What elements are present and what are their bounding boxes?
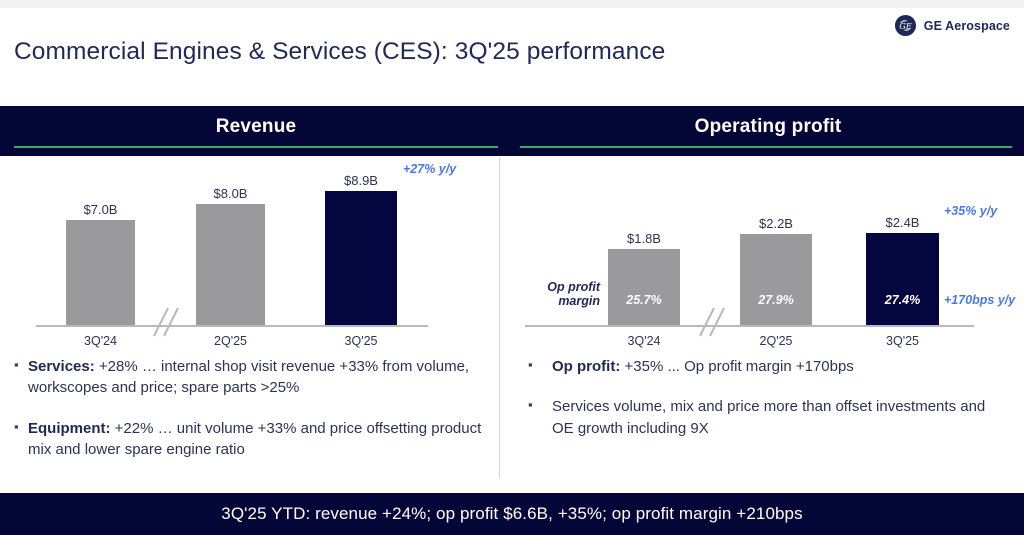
operating-profit-bullet-list: ▪ Op profit: +35% ... Op profit margin +…: [528, 356, 998, 458]
bar-op-profit-3q24: [608, 249, 680, 325]
panel-header-operating-profit-label: Operating profit: [695, 116, 842, 138]
bullet-text: Op profit: +35% ... Op profit margin +17…: [552, 356, 854, 377]
revenue-bullet-list: ▪ Services: +28% … internal shop visit r…: [14, 356, 486, 479]
revenue-bar-chart: $7.0B 3Q'24 $8.0B 2Q'25 $8.9B 3Q'25 +27%…: [0, 156, 499, 356]
bar-margin-op-profit-3q25: 27.4%: [866, 293, 939, 307]
bullet-rest: +28% … internal shop visit revenue +33% …: [28, 358, 469, 396]
bullet-lead: Equipment:: [28, 420, 111, 437]
bar-margin-op-profit-3q24: 25.7%: [608, 293, 680, 307]
category-label-revenue-3q24: 3Q'24: [66, 334, 135, 348]
header-rule-green: [520, 146, 1012, 148]
op-profit-margin-row-label-line2: margin: [512, 294, 600, 308]
brand-logo: GE GE Aerospace: [894, 14, 1010, 37]
panel-header-revenue-label: Revenue: [216, 116, 297, 138]
footer-band: 3Q'25 YTD: revenue +24%; op profit $6.6B…: [0, 493, 1024, 535]
chart-axis-line: [525, 325, 974, 327]
op-profit-margin-row-label-line1: Op profit: [512, 280, 600, 294]
bar-value-revenue-2q25: $8.0B: [196, 186, 265, 201]
bullet-rest: Services volume, mix and price more than…: [552, 398, 985, 436]
list-item: ▪ Equipment: +22% … unit volume +33% and…: [14, 418, 486, 461]
panel-header-revenue: Revenue: [0, 106, 512, 156]
bar-revenue-2q25: [196, 204, 265, 325]
bar-value-op-profit-2q25: $2.2B: [740, 216, 812, 231]
ge-monogram-icon: GE: [894, 14, 917, 37]
bullet-text: Services volume, mix and price more than…: [552, 396, 998, 439]
list-item: ▪ Op profit: +35% ... Op profit margin +…: [528, 356, 998, 377]
top-strip: [0, 0, 1024, 8]
bullet-lead: Services:: [28, 358, 95, 375]
annotation-revenue-yoy: +27% y/y: [403, 162, 456, 176]
slide: GE GE Aerospace Commercial Engines & Ser…: [0, 0, 1024, 535]
category-label-op-profit-3q25: 3Q'25: [866, 334, 939, 348]
bar-value-revenue-3q24: $7.0B: [66, 202, 135, 217]
bar-op-profit-3q25: [866, 233, 939, 325]
brand-name: GE Aerospace: [924, 19, 1010, 33]
header-rule-green: [14, 146, 498, 148]
category-label-op-profit-2q25: 2Q'25: [740, 334, 812, 348]
category-label-revenue-2q25: 2Q'25: [196, 334, 265, 348]
footer-summary-text: 3Q'25 YTD: revenue +24%; op profit $6.6B…: [221, 504, 802, 524]
bar-value-op-profit-3q24: $1.8B: [608, 231, 680, 246]
op-profit-margin-row-label: Op profit margin: [512, 280, 600, 308]
bullet-marker-icon: ▪: [528, 356, 552, 374]
category-label-revenue-3q25: 3Q'25: [325, 334, 397, 348]
axis-break-icon: [692, 302, 732, 342]
annotation-op-profit-margin-yoy: +170bps y/y: [944, 293, 1015, 307]
operating-profit-bar-chart: Op profit margin $1.8B 25.7% 3Q'24 $2.2B…: [500, 156, 1024, 356]
svg-text:GE: GE: [899, 21, 911, 31]
category-label-op-profit-3q24: 3Q'24: [608, 334, 680, 348]
axis-break-icon: [146, 302, 186, 342]
bullet-lead: Op profit:: [552, 358, 620, 375]
bar-value-revenue-3q25: $8.9B: [325, 173, 397, 188]
list-item: ▪ Services volume, mix and price more th…: [528, 396, 998, 439]
list-item: ▪ Services: +28% … internal shop visit r…: [14, 356, 486, 399]
bullet-text: Services: +28% … internal shop visit rev…: [28, 356, 486, 399]
panel-header-operating-profit: Operating profit: [512, 106, 1024, 156]
bar-revenue-3q25: [325, 191, 397, 325]
bar-margin-op-profit-2q25: 27.9%: [740, 293, 812, 307]
bar-revenue-3q24: [66, 220, 135, 325]
bullet-rest: +35% ... Op profit margin +170bps: [620, 358, 853, 375]
chart-axis-line: [36, 325, 428, 327]
panel-header-band: Revenue Operating profit: [0, 106, 1024, 156]
page-title: Commercial Engines & Services (CES): 3Q'…: [14, 38, 665, 66]
bar-op-profit-2q25: [740, 234, 812, 325]
annotation-op-profit-yoy: +35% y/y: [944, 204, 997, 218]
bullet-marker-icon: ▪: [528, 396, 552, 414]
bar-value-op-profit-3q25: $2.4B: [866, 215, 939, 230]
content-panes: $7.0B 3Q'24 $8.0B 2Q'25 $8.9B 3Q'25 +27%…: [0, 156, 1024, 493]
bullet-text: Equipment: +22% … unit volume +33% and p…: [28, 418, 486, 461]
